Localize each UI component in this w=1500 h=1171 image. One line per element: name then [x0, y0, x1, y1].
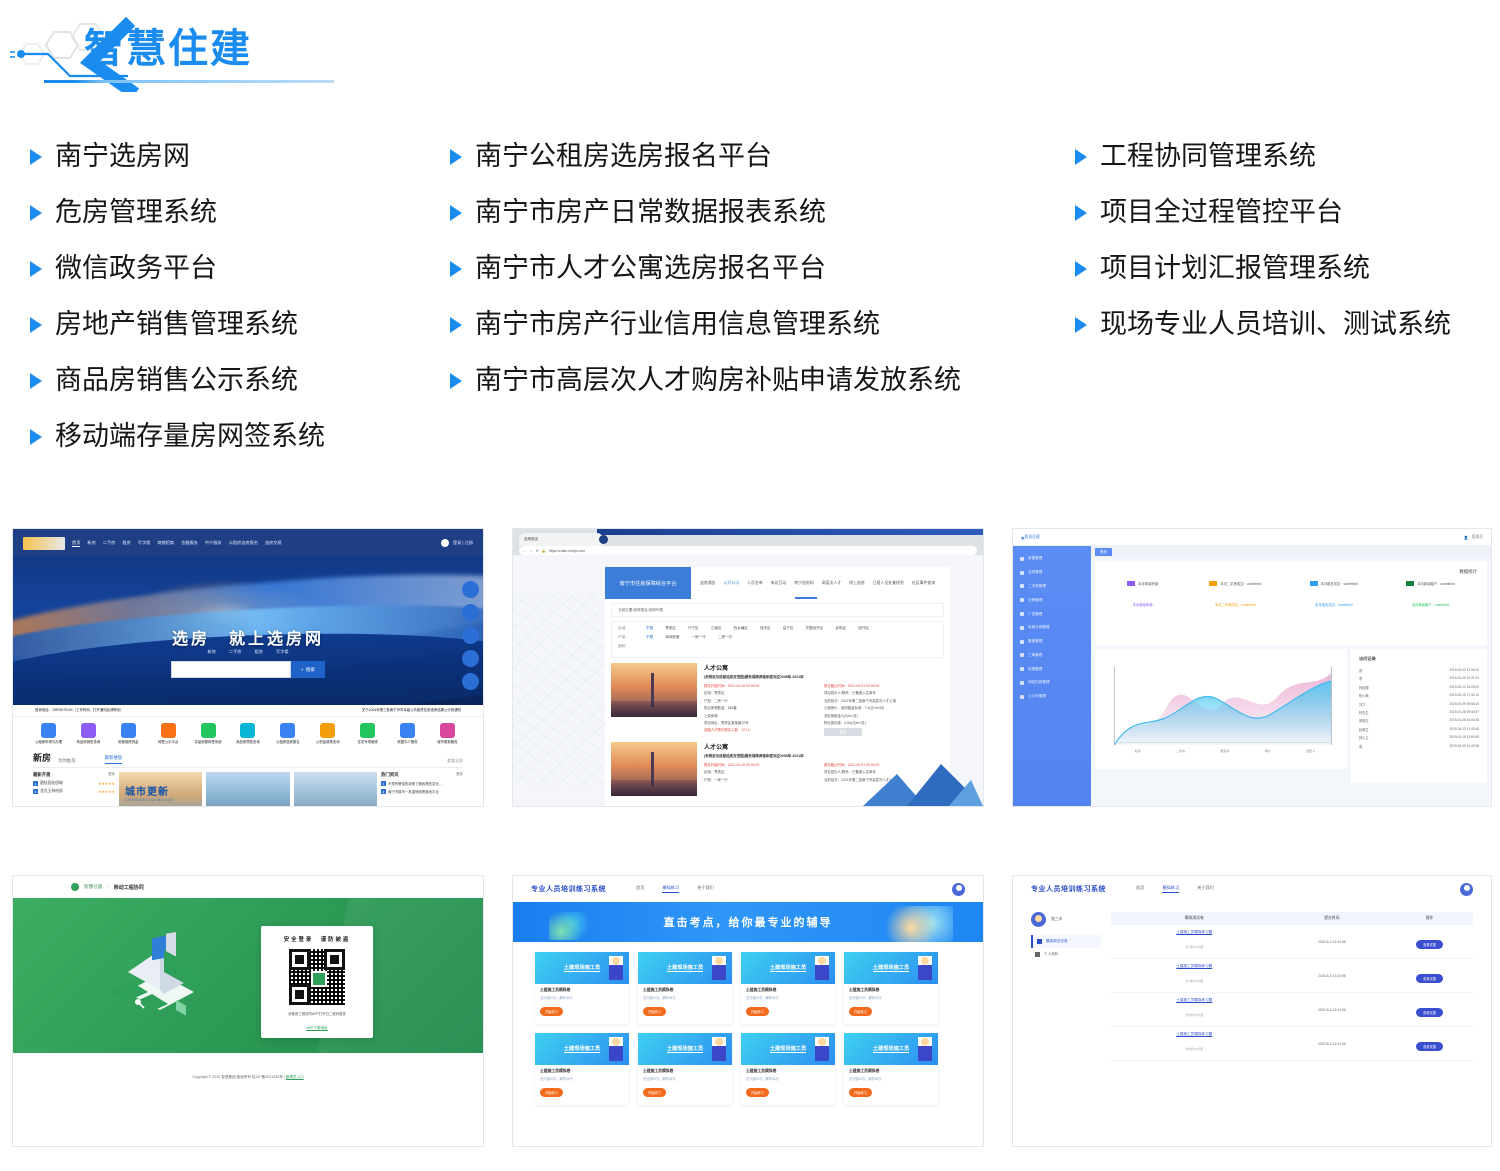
nav-item[interactable]: 人员名单 [747, 580, 763, 586]
submit-time: 2020-8-3 12:31:56 [1278, 940, 1387, 944]
course-name: 土建施工员模拟卷 [643, 1069, 727, 1074]
course-card[interactable]: 土建现场施工员土建施工员模拟卷总分题20次，解析34次开始练习 [844, 952, 938, 1024]
quick-entry[interactable]: 网签公示平台 [153, 723, 184, 744]
divider: | [107, 884, 108, 890]
system-link[interactable]: 移动端存量房网签系统 [30, 420, 450, 453]
screenshot-training-home[interactable]: 专业人员培训练习系统 首页 模拟练习 关于我们 直击考点，给你最专业的辅导 土建… [512, 875, 984, 1147]
record-row: 张2019-06-02 13:05:32 [1359, 668, 1479, 673]
link-column-3: 工程协同管理系统 项目全过程管控平台 项目计划汇报管理系统 现场专业人员培训、测… [1075, 140, 1495, 364]
filter-label: 区域： [618, 626, 634, 631]
sidebar-item[interactable]: 工单管理 [1013, 648, 1091, 662]
record-row: 林经理2019-05-12 15:28:32 [1359, 685, 1479, 690]
site-header: 南宁市住房保障综合平台 选房通告 公开公示 人员名单 来访互动 南宁选房网 高层… [605, 567, 950, 599]
system-link[interactable]: 危房管理系统 [30, 196, 450, 229]
sidebar-item[interactable]: 网站内容管理 [1013, 676, 1091, 690]
stat-value: 本月新增房源： [1133, 602, 1156, 607]
screenshot-mobile-engineering-login[interactable]: 智慧住建 | 移动工程协同 安全登录 谨防被盗 请使用工程协同APP打开扫二维码… [12, 875, 484, 1147]
list-item[interactable]: 2南宁市楼市一批重磅政策落地平台 [381, 789, 463, 794]
admin-entry-link[interactable]: 管理员入口 [286, 1075, 304, 1079]
course-thumb: 土建现场施工员 [844, 952, 938, 984]
filter-option[interactable]: 兴宁区 [688, 626, 699, 631]
nav-item[interactable]: 金融服务 [181, 540, 198, 546]
filter-row-layout[interactable]: 户型： 不限 单间配套 一房一厅 二房一厅 [618, 635, 937, 640]
side-icon-weixiu[interactable] [462, 650, 479, 667]
sidebar-item-label: 合同管理 [1028, 570, 1042, 575]
login-register-link[interactable]: 登录 | 注册 [453, 540, 473, 546]
record-time: 2019-04-28 09:30:57 [1449, 710, 1479, 715]
section-title: 新房 [33, 751, 51, 764]
filter-label: 面积： [618, 644, 634, 649]
qr-code-icon[interactable] [289, 949, 345, 1005]
admin-title: 智慧住建 [1025, 535, 1040, 540]
sidebar-item[interactable]: 广告管理 [1013, 607, 1091, 621]
table-row[interactable]: 土建施工员模拟练习题共7题/70分题 2020-8-3 12:31:56 查看试… [1111, 993, 1473, 1027]
menu-icon [1020, 640, 1024, 644]
view-paper-button[interactable]: 查看试题 [1416, 1008, 1443, 1017]
nav-item-about[interactable]: 关于我们 [697, 885, 714, 893]
listing-field: 报名截止时间：2021-05-01 00:00:00 [824, 683, 944, 688]
hero-tab[interactable]: 新房 [208, 649, 216, 655]
side-icon-xinfang[interactable] [462, 581, 479, 598]
sidebar-item[interactable]: 公众号管理 [1013, 690, 1091, 704]
qr-login-card[interactable]: 安全登录 谨防被盗 请使用工程协同APP打开扫二维码登录 APP下载地址 [261, 926, 373, 1038]
system-link[interactable]: 南宁市房产行业信用信息管理系统 [450, 308, 1070, 341]
site-nav[interactable]: 选房通告 公开公示 人员名单 来访互动 南宁选房网 高层次人才 线上选房 已租人… [700, 580, 935, 586]
nav-item[interactable]: 来访互动 [771, 580, 787, 586]
panel-title: 热门资讯 [381, 772, 399, 778]
admin-main: 首页 数据统计 本月新增房源： 本月二手房成交：undefined 本月租赁成交… [1091, 546, 1491, 806]
start-practice-button[interactable]: 开始练习 [643, 1088, 666, 1096]
sidebar-item-records[interactable]: 模拟测试记录 [1031, 935, 1101, 948]
nav-item-home[interactable]: 首页 [636, 885, 644, 893]
filter-option[interactable]: 西乡塘区 [734, 626, 748, 631]
paper-link[interactable]: 土建施工员模拟练习题 [1111, 964, 1278, 969]
record-time: 2019-04-09 11:42:56 [1450, 744, 1479, 749]
screenshot-gongzufang-platform[interactable]: 选房报名 ← → ⟳ 🔒 https://zufan.nnfcjw.com 南宁… [512, 528, 984, 807]
screenshot-training-records[interactable]: 专业人员培训练习系统 首页 模拟练习 关于我们 张三丰 模拟测试记录 个人资料 … [1012, 875, 1492, 1147]
hero-banner: 选房 就上选房网 新房 二手房 租房 写字楼 ⌕搜索 [13, 557, 483, 705]
filter-option[interactable]: 不限 [646, 635, 653, 640]
person-icon [1035, 952, 1040, 957]
start-practice-button[interactable]: 开始练习 [540, 1007, 563, 1015]
course-thumb: 土建现场施工员 [535, 952, 629, 984]
quick-entry[interactable]: 房屋中介服务 [392, 723, 423, 744]
quick-entry[interactable]: 房屋维修资金 [113, 723, 144, 744]
filter-option[interactable]: 二房一厅 [718, 635, 732, 640]
course-thumb-label: 土建现场施工员 [873, 964, 909, 972]
paper-link[interactable]: 土建施工员模拟练习题 [1111, 998, 1278, 1003]
paper-link[interactable]: 土建施工员模拟练习题 [1111, 1032, 1278, 1037]
view-paper-button[interactable]: 查看试题 [1416, 1042, 1443, 1051]
quick-entry[interactable]: 存量房屋网签系统 [193, 723, 224, 744]
list-item[interactable]: 1碧桂园花园城★★★★★ [33, 781, 115, 786]
paper-sub: 共7题/70分题 [1185, 945, 1203, 949]
hero-tabs[interactable]: 新房 二手房 租房 写字楼 [13, 649, 483, 655]
filter-option[interactable]: 武鸣区 [835, 626, 846, 631]
avatar [1031, 912, 1046, 927]
course-card[interactable]: 土建现场施工员土建施工员模拟卷总分题20次，解析34次开始练习 [638, 1033, 732, 1105]
paper-sub: 共7题/70分题 [1185, 1047, 1203, 1051]
system-link[interactable]: 项目计划汇报管理系统 [1075, 252, 1495, 285]
record-time: 2019-04-23 11:43:45 [1450, 727, 1479, 732]
quick-entry-icon [360, 723, 375, 738]
person-icon [609, 956, 623, 980]
nav-item[interactable]: 首页 [72, 540, 80, 547]
nav-item[interactable]: 中介服务 [205, 540, 222, 546]
sidebar-item-label: 二手房管理 [1028, 584, 1046, 589]
record-user: 刘力 [1359, 702, 1365, 707]
nav-item[interactable]: 高层次人才 [822, 580, 841, 586]
person-icon [918, 1037, 932, 1061]
nav-item[interactable]: 社区事件查询 [912, 580, 935, 586]
quick-entry-icon [320, 723, 335, 738]
auth-area[interactable]: 登录 | 注册 [441, 539, 473, 547]
site-logo-icon [23, 537, 65, 550]
search-button-label: 搜索 [306, 667, 315, 673]
triangle-bullet-icon [450, 317, 462, 333]
record-row: 钱小立2019-04-19 13:50:59 [1359, 735, 1479, 740]
banner-photo-3[interactable] [294, 772, 377, 807]
table-row[interactable]: 土建施工员模拟练习题共7题/70分题 2020-8-3 12:31:56 查看试… [1111, 959, 1473, 993]
section-subtitle: 为你推荐 [58, 758, 76, 764]
stats-values: 本月新增房源： 本月二手房成交：undefined 本月租赁成交：undefin… [1103, 602, 1479, 607]
stat-value: 本月二手房成交：undefined [1215, 602, 1256, 607]
sidebar-item[interactable]: 交房管理 [1013, 593, 1091, 607]
search-button[interactable]: ⌕搜索 [291, 661, 325, 678]
course-thumb: 土建现场施工员 [638, 1033, 732, 1065]
record-time: 2019-05-12 15:28:32 [1449, 685, 1479, 690]
listing-field: 物业费标准：0.56(元/m²/月) [824, 720, 944, 725]
sidebar-item[interactable]: 电商分销管理 [1013, 621, 1091, 635]
system-link-label: 南宁公租房选房报名平台 [475, 140, 772, 173]
course-card[interactable]: 土建现场施工员土建施工员模拟卷总分题20次，解析34次开始练习 [535, 1033, 629, 1105]
system-link[interactable]: 南宁市高层次人才购房补贴申请发放系统 [450, 364, 1070, 397]
list-item[interactable]: 1不是有警惕的政策了解政策的变化... [381, 781, 463, 786]
triangle-bullet-icon [30, 317, 42, 333]
legend-label: 本月二手房成交：undefined [1220, 581, 1261, 586]
listing-field: 户型：二房一厅 [704, 698, 824, 703]
account-area[interactable]: 👤管理员 [1464, 535, 1483, 540]
sidebar-item[interactable]: 权限管理 [1013, 662, 1091, 676]
access-records-panel: 访问记录 张2019-06-02 13:05:32 李2019-05-29 12… [1351, 649, 1487, 783]
system-link-label: 微信政务平台 [55, 252, 217, 285]
record-user: 钱小立 [1359, 735, 1369, 740]
reload-icon[interactable]: ⟳ [536, 549, 539, 553]
system-link[interactable]: 项目全过程管控平台 [1075, 196, 1495, 229]
forward-icon[interactable]: → [529, 549, 532, 553]
system-link[interactable]: 房地产销售管理系统 [30, 308, 450, 341]
course-thumb: 土建现场施工员 [741, 952, 835, 984]
hero-tab[interactable]: 租房 [255, 649, 263, 655]
paper-sub: 共7题/70分题 [1185, 979, 1203, 983]
banner-pinyin: CHENGSHIGENGXIN [125, 798, 174, 802]
system-link[interactable]: 南宁选房网 [30, 140, 450, 173]
notice-phone: 咨询电话：18576075104（工作时间，打开通知后请联系） [35, 708, 124, 712]
training-brand: 专业人员培训练习系统 [1031, 884, 1106, 894]
sidebar-item-profile[interactable]: 个人资料 [1031, 948, 1101, 961]
record-time: 2019-04-28 16:00:48 [1449, 718, 1479, 723]
list-item[interactable]: 2龙光玉林府邸★★★★★ [33, 789, 115, 794]
system-link[interactable]: 现场专业人员培训、测试系统 [1075, 308, 1495, 341]
quick-entry-icon [161, 723, 176, 738]
listing-subtitle: (未规定与房屋选房及范围)服务保障资格年度对应2008年-2021年 [704, 675, 944, 680]
course-card[interactable]: 土建现场施工员土建施工员模拟卷总分题20次，解析34次开始练习 [638, 952, 732, 1024]
menu-icon [1020, 598, 1024, 602]
sidebar-item[interactable]: 合同管理 [1013, 566, 1091, 580]
system-link-label: 项目全过程管控平台 [1100, 196, 1343, 229]
filter-option[interactable]: 邕宁区 [783, 626, 794, 631]
record-user: 陈小梅 [1359, 693, 1369, 698]
system-link-label: 南宁市人才公寓选房报名平台 [475, 252, 826, 285]
course-thumb: 土建现场施工员 [741, 1033, 835, 1065]
leaf-decoration-icon [549, 912, 589, 940]
quick-entry[interactable]: 商品房预售查询 [232, 723, 263, 744]
copyright-label: Copyright © 2019 智慧集团 版权所有 桂ICP备2021253号… [192, 1075, 284, 1079]
sidebar-item[interactable]: 集团管理 [1013, 635, 1091, 649]
menu-icon [1020, 557, 1024, 561]
floating-side-menu[interactable] [462, 581, 479, 690]
course-card[interactable]: 土建现场施工员土建施工员模拟卷总分题20次，解析34次开始练习 [741, 1033, 835, 1105]
start-practice-button[interactable]: 开始练习 [849, 1088, 872, 1096]
banner-photo-2[interactable] [206, 772, 289, 807]
copyright-text: Copyright © 2019 智慧集团 版权所有 桂ICP备2021253号… [13, 1075, 483, 1080]
rank-badge: 1 [381, 781, 386, 786]
quick-entry[interactable]: 公积金政策查询 [312, 723, 343, 744]
filter-panel[interactable]: 区域： 不限 青秀区 兴宁区 江南区 西乡塘区 良庆区 邕宁区 东盟经开区 武鸣… [611, 621, 944, 658]
nav-item[interactable]: 南宁选房网 [794, 580, 813, 586]
filter-option[interactable]: 单间配套 [665, 635, 679, 640]
filter-option[interactable]: 一房一厅 [692, 635, 706, 640]
system-link[interactable]: 微信政务平台 [30, 252, 450, 285]
search-input[interactable] [171, 661, 291, 678]
course-name: 土建施工员模拟卷 [540, 1069, 624, 1074]
rating-stars: ★★★★★ [98, 781, 115, 786]
quick-entry[interactable]: 商品房销售查询 [73, 723, 104, 744]
legend-item: 本月二手房成交：undefined [1209, 581, 1261, 586]
section-more-link[interactable]: 查看全部 [447, 758, 463, 764]
start-practice-button[interactable]: 开始练习 [540, 1088, 563, 1096]
quick-entry[interactable]: 城市更新服务 [432, 723, 463, 744]
back-icon[interactable]: ← [523, 549, 526, 553]
link-column-1: 南宁选房网 危房管理系统 微信政务平台 房地产销售管理系统 商品房销售公示系统 … [30, 140, 450, 476]
site-brand: 南宁市住房保障综合平台 [605, 567, 691, 599]
panel-more-link[interactable]: 更多 [108, 772, 115, 778]
system-link[interactable]: 工程协同管理系统 [1075, 140, 1495, 173]
quick-entry-grid[interactable]: 公租房申请与办理 商品房销售查询 房屋维修资金 网签公示平台 存量房屋网签系统 … [13, 717, 483, 748]
side-icon-zufang[interactable] [462, 627, 479, 644]
legend-swatch [1209, 581, 1217, 586]
start-practice-button[interactable]: 开始练习 [643, 1007, 666, 1015]
tab-home[interactable]: 首页 [1095, 548, 1112, 556]
side-icon-zhiye[interactable] [462, 673, 479, 690]
sidebar-item-label: 交房管理 [1028, 598, 1042, 603]
filter-row-area[interactable]: 面积： [618, 644, 937, 649]
system-link-label: 现场专业人员培训、测试系统 [1100, 308, 1451, 341]
sidebar-item[interactable]: 二手房管理 [1013, 580, 1091, 594]
address-bar[interactable]: ← → ⟳ 🔒 https://zufan.nnfcjw.com [519, 546, 977, 555]
page-viewport: 南宁市住房保障综合平台 选房通告 公开公示 人员名单 来访互动 南宁选房网 高层… [513, 555, 983, 806]
course-stats: 总分题20次，解析34次 [849, 995, 933, 1000]
start-practice-button[interactable]: 开始练习 [746, 1088, 769, 1096]
training-nav[interactable]: 首页 模拟练习 关于我们 [636, 885, 714, 893]
nav-item[interactable]: 选房交易 [265, 540, 282, 546]
system-link[interactable]: 南宁市人才公寓选房报名平台 [450, 252, 1070, 285]
start-practice-button[interactable]: 开始练习 [849, 1007, 872, 1015]
title-underline [44, 80, 334, 83]
sidebar-item-label: 模拟测试记录 [1046, 939, 1068, 944]
listing-field: 报名开始时间：2021-04-26 09:00:00 [704, 762, 824, 767]
listing-title: 人才公寓 [704, 663, 944, 672]
course-name: 土建施工员模拟卷 [849, 1069, 933, 1074]
notice-announcement[interactable]: 关于2024年第三批南宁市市本级公共租赁住房选房结果公示的通知 [362, 708, 461, 712]
system-link-label: 房地产销售管理系统 [55, 308, 298, 341]
start-practice-button[interactable]: 开始练习 [746, 1007, 769, 1015]
record-row: 刘力2019-05-09 09:55:40 [1359, 702, 1479, 707]
nav-item[interactable]: 新房 [87, 540, 95, 546]
filter-option[interactable]: 经开区 [858, 626, 869, 631]
table-row[interactable]: 土建施工员模拟练习题共7题/70分题 2020-8-3 12:31:56 查看试… [1111, 1027, 1473, 1061]
filter-option[interactable]: 良庆区 [760, 626, 771, 631]
side-icon-ershoufang[interactable] [462, 604, 479, 621]
nav-item-about[interactable]: 关于我们 [1197, 885, 1214, 893]
sidebar-item-label: 公众号管理 [1028, 694, 1046, 699]
quick-entry-icon [240, 723, 255, 738]
course-stats: 总分题20次，解析34次 [849, 1076, 933, 1081]
paper-link[interactable]: 土建施工员模拟练习题 [1111, 930, 1278, 935]
course-card[interactable]: 土建现场施工员土建施工员模拟卷总分题20次，解析34次开始练习 [844, 1033, 938, 1105]
listing-item[interactable]: 人才公寓 (未规定与房屋选房及范围)服务保障资格年度对应2008年-2021年 … [611, 663, 944, 736]
panel-more-link[interactable]: 更多 [456, 772, 463, 778]
sidebar-item-label: 个人资料 [1044, 952, 1058, 957]
new-tab-icon[interactable] [599, 535, 608, 544]
filter-row-region[interactable]: 区域： 不限 青秀区 兴宁区 江南区 西乡塘区 良庆区 邕宁区 东盟经开区 武鸣… [618, 626, 937, 631]
avatar[interactable] [952, 883, 965, 896]
apply-button[interactable]: 报名 [824, 728, 862, 736]
system-link[interactable]: 南宁市房产日常数据报表系统 [450, 196, 1070, 229]
filter-option[interactable]: 不限 [646, 626, 653, 631]
menu-icon [1020, 681, 1024, 685]
course-stats: 总分题20次，解析34次 [643, 1076, 727, 1081]
hero-search[interactable]: ⌕搜索 [171, 661, 325, 678]
system-link[interactable]: 商品房销售公示系统 [30, 364, 450, 397]
profile-user: 张三丰 [1031, 912, 1101, 927]
admin-topbar: ▣ 智慧住建 👤管理员 [1013, 529, 1491, 546]
quick-entry[interactable]: 公租房选房报名 [272, 723, 303, 744]
course-card[interactable]: 土建现场施工员土建施工员模拟卷总分题20次，解析34次开始练习 [535, 952, 629, 1024]
listing-field: 公租房价、政府租金标准：7.6(元/m²/月) [824, 705, 944, 710]
record-user: 李 [1359, 676, 1362, 681]
view-paper-button[interactable]: 查看试题 [1416, 940, 1443, 949]
search-icon: ⌕ [301, 667, 304, 672]
section-tab[interactable]: 最新楼盘 [105, 755, 123, 764]
company-logo-icon [71, 883, 79, 891]
screenshot-admin-dashboard[interactable]: ▣ 智慧住建 👤管理员 房屋管理 合同管理 二手房管理 交房管理 广告管理 电商… [1012, 528, 1492, 807]
listing-field: 供应房源数量：548套 [704, 705, 824, 710]
triangle-bullet-icon [450, 149, 462, 165]
avatar[interactable] [1460, 883, 1473, 896]
system-link[interactable]: 南宁公租房选房报名平台 [450, 140, 1070, 173]
training-nav[interactable]: 首页 模拟练习 关于我们 [1136, 885, 1214, 893]
course-card[interactable]: 土建现场施工员土建施工员模拟卷总分题20次，解析34次开始练习 [741, 952, 835, 1024]
filter-option[interactable]: 江南区 [711, 626, 722, 631]
triangle-bullet-icon [1075, 261, 1087, 277]
banner-title: 直击考点，给你最专业的辅导 [664, 914, 833, 930]
course-thumb-label: 土建现场施工员 [564, 1045, 600, 1053]
person-icon [712, 956, 726, 980]
company-name: 智慧住建 [84, 884, 102, 890]
sidebar-item[interactable]: 房屋管理 [1013, 552, 1091, 566]
view-paper-button[interactable]: 查看试题 [1416, 974, 1443, 983]
nav-item[interactable]: 公租房选房报名 [229, 540, 258, 546]
nav-item[interactable]: 选房通告 [700, 580, 716, 586]
screenshot-xuanfangwang[interactable]: 首页 新房 二手房 租房 写字楼 商铺招商 金融服务 中介服务 公租房选房报名 … [12, 528, 484, 807]
course-thumb: 土建现场施工员 [535, 1033, 629, 1065]
nav-item[interactable]: 商铺招商 [157, 540, 174, 546]
active-nav-underline [795, 597, 817, 599]
nav-item-home[interactable]: 首页 [1136, 885, 1144, 893]
record-row: 林先生2019-04-28 09:30:57 [1359, 710, 1479, 715]
rating-stars: ★★★★★ [98, 789, 115, 794]
nav-item[interactable]: 二手房 [103, 540, 116, 546]
legend-swatch [1406, 581, 1414, 586]
nav-item[interactable]: 写字楼 [138, 540, 151, 546]
nav-item[interactable]: 公开公示 [724, 580, 740, 586]
banner-city-renewal[interactable]: 城市更新CHENGSHIGENGXIN [119, 772, 202, 807]
latest-openings-panel: 最新开盘更多 1碧桂园花园城★★★★★ 2龙光玉林府邸★★★★★ [33, 772, 115, 807]
system-link-label: 南宁市高层次人才购房补贴申请发放系统 [475, 364, 961, 397]
qr-tip: 请使用工程协同APP打开扫二维码登录 [261, 1011, 373, 1016]
lock-icon: 🔒 [542, 549, 546, 553]
filter-option[interactable]: 东盟经开区 [805, 626, 823, 631]
nav-item[interactable]: 线上选房 [849, 580, 865, 586]
quick-entry-icon [121, 723, 136, 738]
rank-badge: 2 [381, 789, 386, 794]
listing-field: 区域：青秀区 [704, 769, 824, 774]
browser-tab[interactable]: 选房报名 [519, 533, 603, 546]
submit-time: 2020-8-3 12:31:56 [1278, 974, 1387, 978]
nav-item-practice[interactable]: 模拟练习 [1162, 885, 1179, 893]
table-row[interactable]: 土建施工员模拟练习题共7题/70分题 2020-8-3 12:31:56 查看试… [1111, 925, 1473, 959]
quick-entry-icon [81, 723, 96, 738]
app-download-link[interactable]: APP下载地址 [306, 1026, 328, 1031]
course-name: 土建施工员模拟卷 [849, 988, 933, 993]
profile-sidebar: 张三丰 模拟测试记录 个人资料 [1031, 912, 1101, 1061]
nav-item-practice[interactable]: 模拟练习 [662, 885, 679, 893]
record-time: 2019-06-02 13:05:32 [1449, 668, 1479, 673]
system-link-label: 南宁市房产日常数据报表系统 [475, 196, 826, 229]
tab-bar[interactable]: 首页 [1091, 546, 1491, 557]
nav-item[interactable]: 已租人员处复核免 [873, 580, 904, 586]
hero-tab[interactable]: 二手房 [229, 649, 242, 655]
menu-icon [1020, 695, 1024, 699]
x-axis-line [1117, 742, 1333, 743]
filter-option[interactable]: 青秀区 [665, 626, 676, 631]
record-row: 周2019-04-09 11:42:56 [1359, 744, 1479, 749]
nav-item[interactable]: 租房 [122, 540, 130, 546]
admin-sidebar[interactable]: 房屋管理 合同管理 二手房管理 交房管理 广告管理 电商分销管理 集团管理 工单… [1013, 546, 1091, 806]
listing-field: 选租人才预约报名人数：121人 [704, 727, 824, 732]
quick-entry-icon [41, 723, 56, 738]
quick-entry[interactable]: 住宅专项维修 [352, 723, 383, 744]
listing-field: 项目领办人/联系：已备案入住单年 [824, 690, 944, 695]
listing-field: 项目地址：青秀区某某路20号 [704, 720, 824, 725]
system-name: 移动工程协同 [114, 884, 144, 891]
record-user: 赵明生 [1359, 727, 1369, 732]
menu-icon [1020, 626, 1024, 630]
submit-time: 2020-8-3 12:31:56 [1278, 1008, 1387, 1012]
hero-tab[interactable]: 写字楼 [276, 649, 289, 655]
quick-entry[interactable]: 公租房申请与办理 [33, 723, 64, 744]
